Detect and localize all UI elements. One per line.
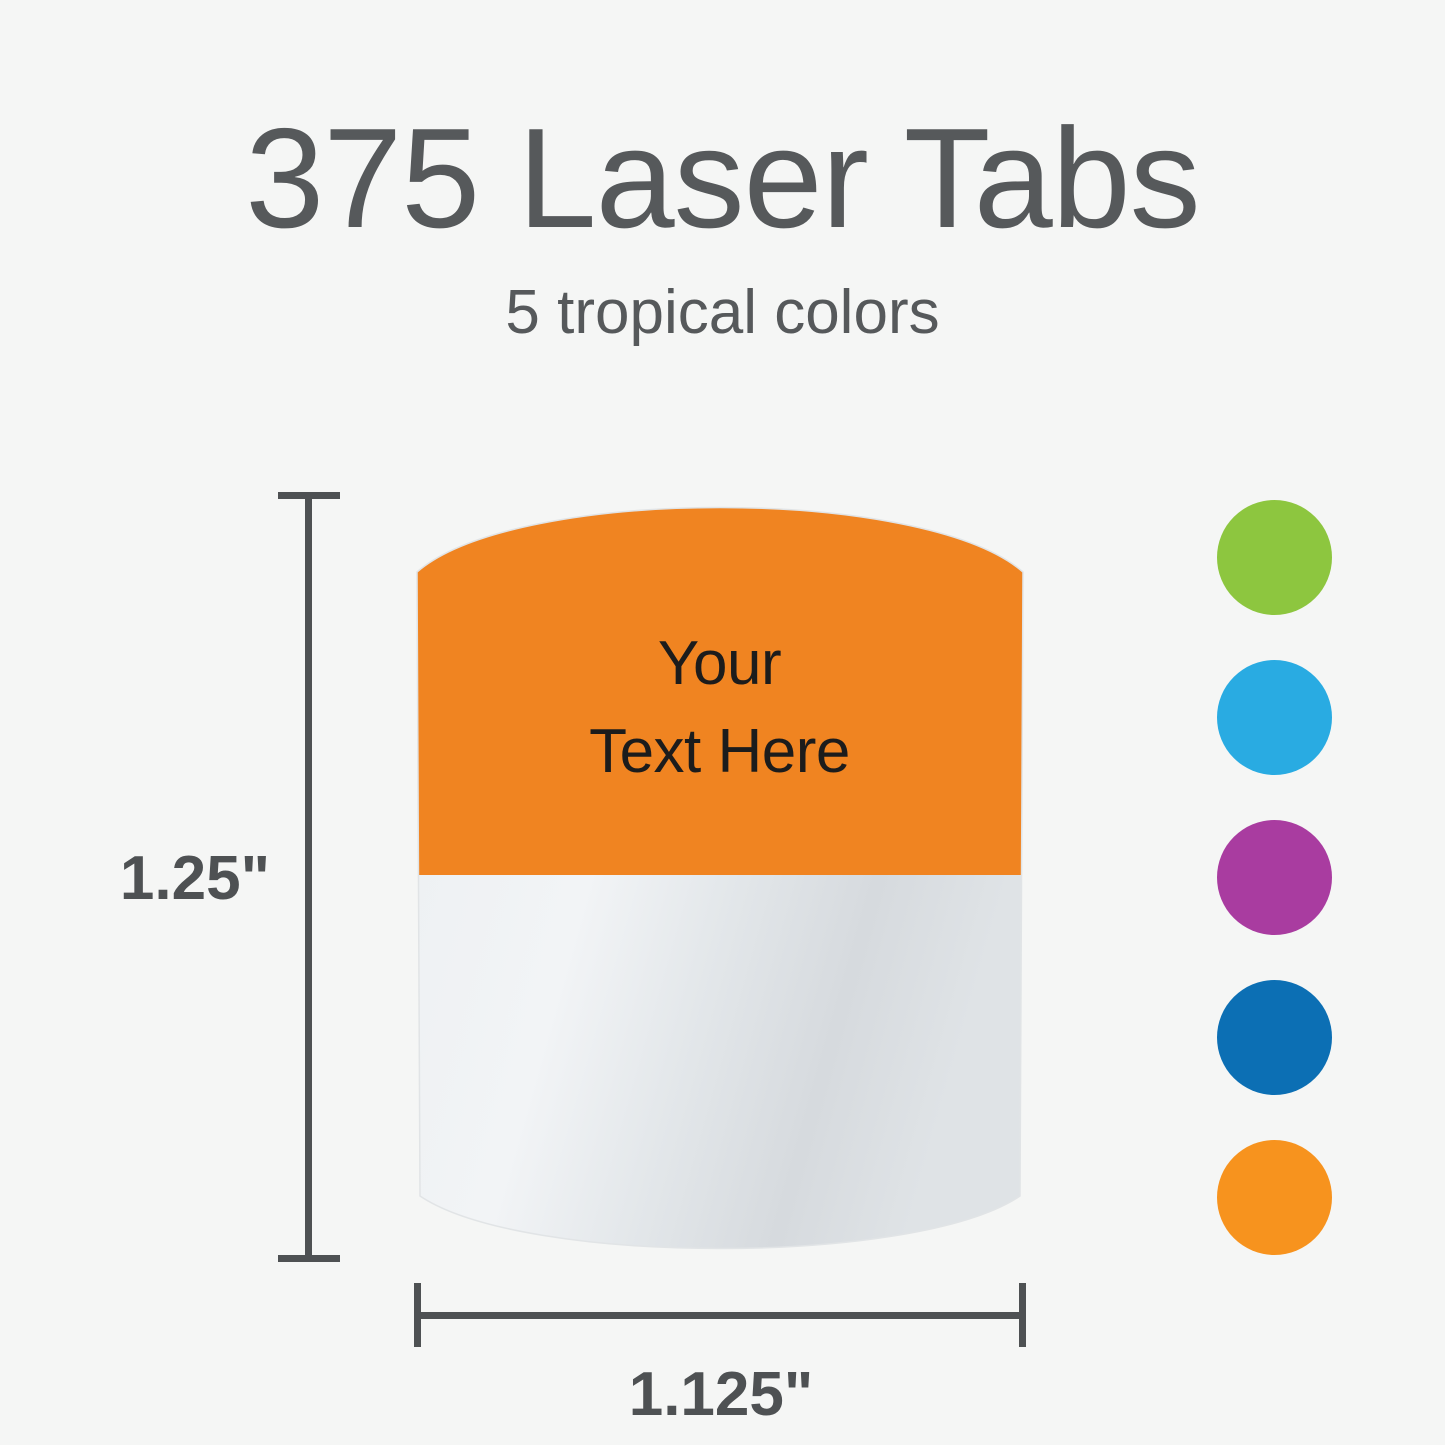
tab-color-section (396, 476, 1044, 875)
height-dimension-cap-bottom (278, 1255, 340, 1262)
height-dimension-cap-top (278, 492, 340, 499)
product-tab-illustration (396, 476, 1044, 1276)
color-swatch-magenta-purple[interactable] (1217, 820, 1332, 935)
color-swatch-list (1217, 500, 1332, 1255)
color-swatch-royal-blue[interactable] (1217, 980, 1332, 1095)
page-subtitle: 5 tropical colors (0, 278, 1445, 348)
color-swatch-lime-green[interactable] (1217, 500, 1332, 615)
height-dimension-line (305, 494, 312, 1262)
color-swatch-orange[interactable] (1217, 1140, 1332, 1255)
page-title: 375 Laser Tabs (0, 104, 1445, 254)
width-dimension-cap-right (1019, 1283, 1026, 1347)
width-dimension-cap-left (414, 1283, 421, 1347)
height-dimension-label: 1.25" (40, 840, 270, 918)
product-infographic: 375 Laser Tabs 5 tropical colors (0, 0, 1445, 1445)
color-swatch-sky-blue[interactable] (1217, 660, 1332, 775)
width-dimension-line (417, 1312, 1025, 1319)
width-dimension-label: 1.125" (417, 1356, 1025, 1434)
